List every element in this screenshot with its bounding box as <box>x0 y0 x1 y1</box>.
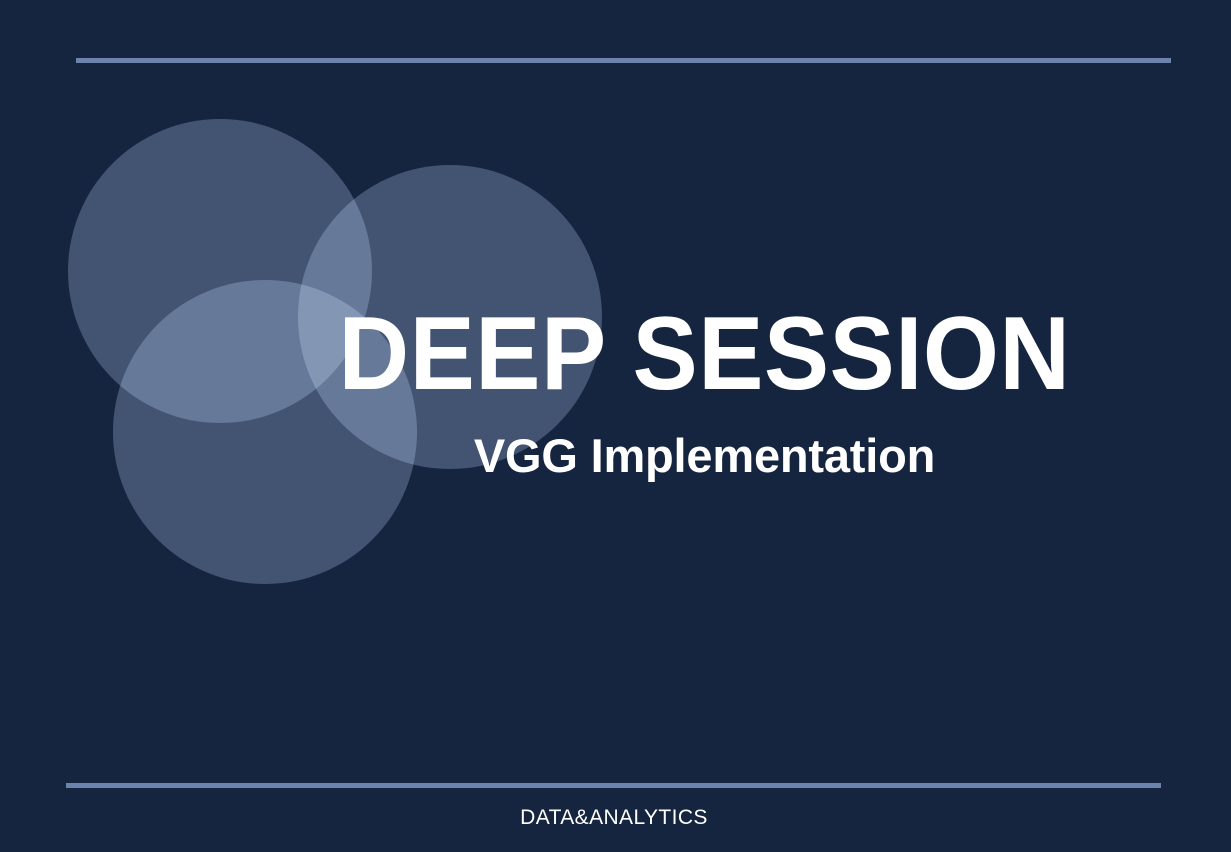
footer-brand-label: DATA&ANALYTICS <box>520 806 708 829</box>
page-title: DEEP SESSION <box>210 300 1200 408</box>
page-subtitle: VGG Implementation <box>178 430 1231 482</box>
top-divider-rule <box>76 58 1171 63</box>
title-slide: DEEP SESSION VGG Implementation DATA&ANA… <box>0 0 1231 852</box>
headline-block: DEEP SESSION VGG Implementation <box>0 300 1231 482</box>
bottom-divider-rule <box>66 783 1161 788</box>
slide-footer: DATA&ANALYTICS <box>0 806 1231 830</box>
